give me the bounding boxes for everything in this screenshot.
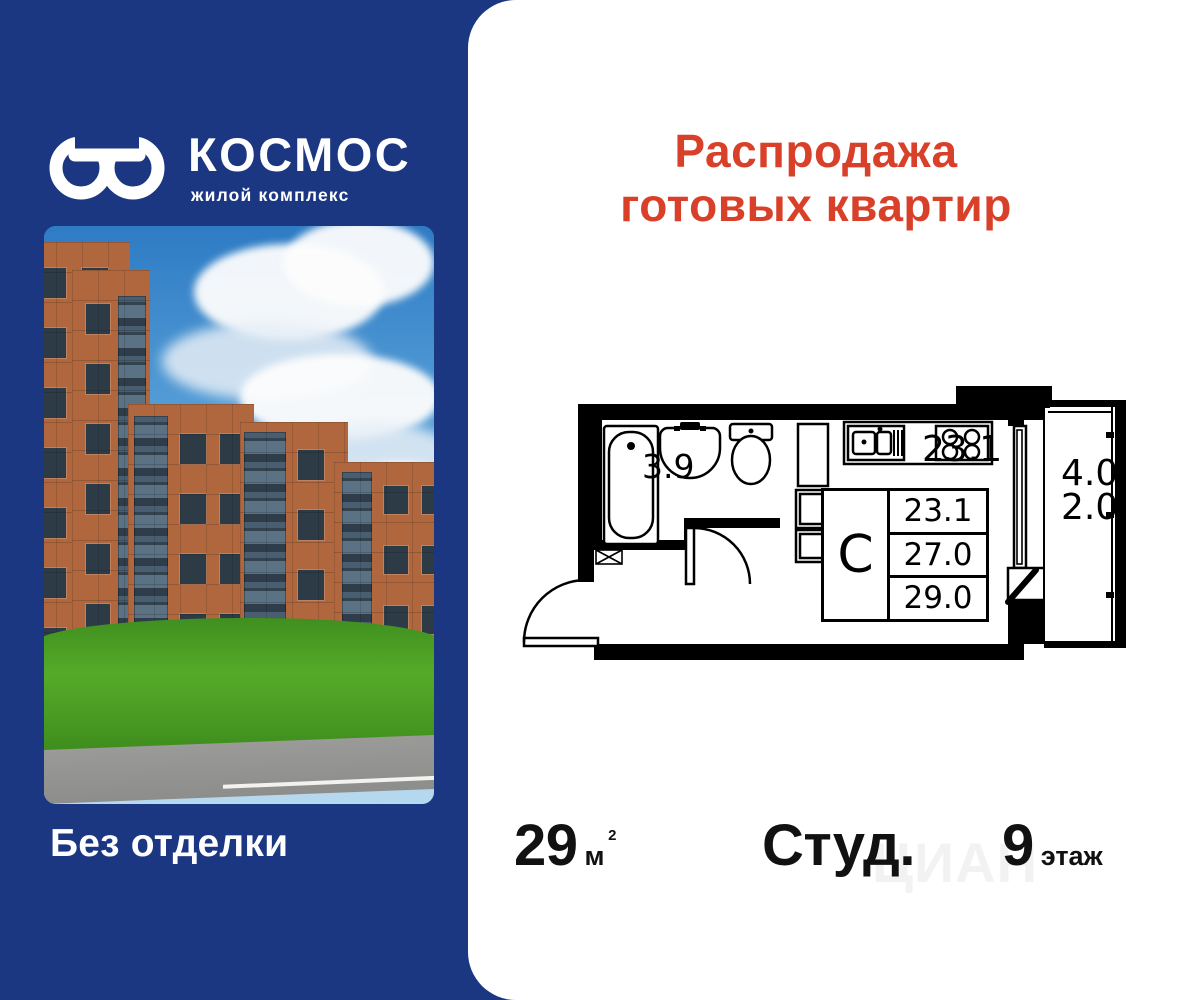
- legend-values: 23.1 27.0 29.0: [890, 491, 986, 619]
- left-blue-panel: КОСМОС жилой комплекс: [0, 0, 468, 1000]
- brand-wordmark: КОСМОС жилой комплекс: [188, 131, 411, 206]
- stat-rooms: Студ.: [762, 812, 915, 879]
- listing-card: КОСМОС жилой комплекс: [0, 0, 1200, 1000]
- brand-logo-block: КОСМОС жилой комплекс: [48, 122, 438, 214]
- kitchen-sink-icon: [848, 426, 904, 460]
- legend-row: 23.1: [890, 491, 986, 532]
- finish-caption: Без отделки: [50, 822, 288, 866]
- stat-floor-value: 9: [1002, 812, 1034, 879]
- area-legend-table: C 23.1 27.0 29.0: [821, 488, 989, 622]
- brand-name: КОСМОС: [188, 131, 411, 178]
- living-area-label: 23.1: [922, 432, 1002, 468]
- promo-headline-line2: готовых квартир: [468, 178, 1164, 232]
- right-white-panel: Распродажа готовых квартир: [468, 0, 1200, 1000]
- stat-floor: 9 этаж: [1002, 812, 1103, 879]
- legend-apartment-type: C: [824, 491, 890, 619]
- bathroom-door-icon: [686, 528, 750, 584]
- bathroom-area-label: 3.9: [642, 450, 694, 483]
- brand-tagline: жилой комплекс: [191, 185, 411, 206]
- promo-headline-line1: Распродажа: [468, 124, 1164, 178]
- stat-area-unit-text: м: [585, 841, 605, 871]
- balcony-area-counted-label: 2.0: [1061, 490, 1118, 526]
- stat-area-value: 29: [514, 812, 578, 879]
- stat-area-unit-sup: 2: [608, 827, 616, 844]
- wall-hatch-mark: [596, 550, 622, 564]
- infinity-logo-icon: [48, 133, 166, 203]
- stat-floor-unit: этаж: [1041, 841, 1103, 872]
- legend-row: 27.0: [890, 532, 986, 576]
- residential-complex-photo: [44, 226, 434, 804]
- promo-headline: Распродажа готовых квартир: [468, 124, 1164, 233]
- toilet-icon: [730, 424, 772, 484]
- stat-area: 29 м 2: [514, 812, 605, 879]
- entry-door-icon: [524, 576, 598, 646]
- balcony-door-icon: [1014, 426, 1026, 568]
- summary-stats: 29 м 2 Студ. 9 этаж: [508, 808, 1168, 888]
- stat-area-unit: м 2: [585, 841, 605, 872]
- legend-row: 29.0: [890, 575, 986, 619]
- floor-plan: 3.9 23.1 4.0 2.0 C 23.1 27.0 29.0: [508, 372, 1168, 672]
- stat-rooms-value: Студ.: [762, 812, 915, 879]
